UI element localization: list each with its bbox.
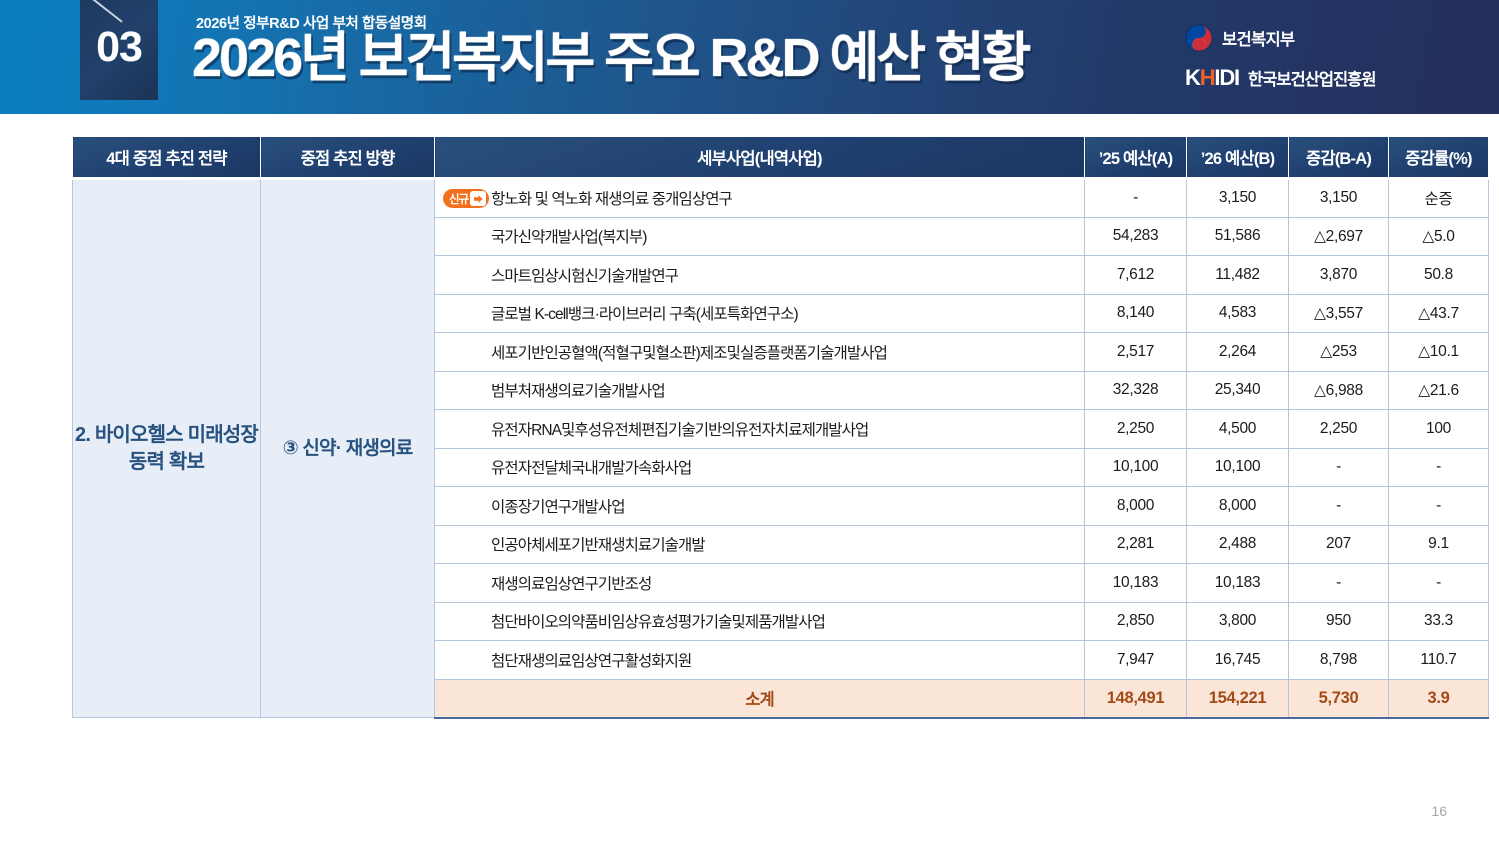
cell-budget-25: 2,517: [1085, 333, 1187, 372]
budget-table-wrapper: 4대 중점 추진 전략 중점 추진 방향 세부사업(내역사업) ’25 예산(A…: [72, 136, 1430, 719]
cell-rate: -: [1389, 448, 1489, 487]
cell-diff: △2,697: [1289, 217, 1389, 256]
cell-subtotal-diff: 5,730: [1289, 679, 1389, 718]
new-arrow-icon: [470, 191, 486, 206]
cell-diff: △253: [1289, 333, 1389, 372]
table-header-row: 4대 중점 추진 전략 중점 추진 방향 세부사업(내역사업) ’25 예산(A…: [73, 137, 1489, 179]
cell-rate: △21.6: [1389, 371, 1489, 410]
cell-budget-25: 10,100: [1085, 448, 1187, 487]
cell-program-name: 첨단바이오의약품비임상유효성평가기술및제품개발사업: [435, 602, 1085, 641]
cell-budget-25: 54,283: [1085, 217, 1187, 256]
cell-diff: -: [1289, 564, 1389, 603]
col-header-budget-25: ’25 예산(A): [1085, 137, 1187, 179]
cell-subtotal-rate: 3.9: [1389, 679, 1489, 718]
khidi-letters-idi: IDI: [1214, 65, 1239, 90]
cell-budget-26: 8,000: [1187, 487, 1289, 526]
budget-table: 4대 중점 추진 전략 중점 추진 방향 세부사업(내역사업) ’25 예산(A…: [72, 136, 1489, 719]
cell-budget-25: -: [1085, 179, 1187, 218]
page-number: 16: [1431, 803, 1447, 819]
cell-diff: -: [1289, 448, 1389, 487]
cell-rate: 100: [1389, 410, 1489, 449]
col-header-rate: 증감률(%): [1389, 137, 1489, 179]
cell-program-name: 재생의료임상연구기반조성: [435, 564, 1085, 603]
cell-rate: 110.7: [1389, 641, 1489, 680]
khidi-logo: KHIDI 한국보건산업진흥원: [1185, 65, 1435, 91]
taegeuk-icon: [1185, 24, 1213, 52]
cell-diff: 207: [1289, 525, 1389, 564]
cell-diff: 8,798: [1289, 641, 1389, 680]
cell-budget-25: 2,250: [1085, 410, 1187, 449]
cell-budget-26: 4,500: [1187, 410, 1289, 449]
cell-program-name: 유전자전달체국내개발가속화사업: [435, 448, 1085, 487]
cell-diff: 3,150: [1289, 179, 1389, 218]
col-header-program: 세부사업(내역사업): [435, 137, 1085, 179]
logo-group: 보건복지부 KHIDI 한국보건산업진흥원: [1185, 24, 1435, 91]
cell-rate: △43.7: [1389, 294, 1489, 333]
cell-rate: △10.1: [1389, 333, 1489, 372]
section-number: 03: [80, 26, 158, 69]
col-header-budget-26: ’26 예산(B): [1187, 137, 1289, 179]
cell-strategy: 2. 바이오헬스 미래성장 동력 확보: [73, 179, 261, 718]
cell-program-name: 이종장기연구개발사업: [435, 487, 1085, 526]
cell-rate: 33.3: [1389, 602, 1489, 641]
cell-program-name: 첨단재생의료임상연구활성화지원: [435, 641, 1085, 680]
table-row: 2. 바이오헬스 미래성장 동력 확보③ 신약· 재생의료신규항노화 및 역노화…: [73, 179, 1489, 218]
new-badge-label: 신규: [449, 191, 468, 207]
col-header-direction: 중점 추진 방향: [261, 137, 435, 179]
cell-budget-25: 7,612: [1085, 256, 1187, 295]
program-name-text: 항노화 및 역노화 재생의료 중개임상연구: [491, 191, 732, 208]
cell-rate: -: [1389, 487, 1489, 526]
cell-program-name: 세포기반인공혈액(적혈구및혈소판)제조및실증플랫폼기술개발사업: [435, 333, 1085, 372]
cell-diff: 950: [1289, 602, 1389, 641]
cell-budget-26: 10,100: [1187, 448, 1289, 487]
cell-diff: 3,870: [1289, 256, 1389, 295]
khidi-letter-h: H: [1200, 65, 1215, 90]
cell-budget-25: 7,947: [1085, 641, 1187, 680]
cell-rate: 50.8: [1389, 256, 1489, 295]
cell-budget-26: 3,150: [1187, 179, 1289, 218]
cell-subtotal-budget-26: 154,221: [1187, 679, 1289, 718]
cell-rate: 순증: [1389, 179, 1489, 218]
cell-budget-26: 4,583: [1187, 294, 1289, 333]
ministry-logo: 보건복지부: [1185, 24, 1435, 52]
cell-program-name: 인공아체세포기반재생치료기술개발: [435, 525, 1085, 564]
slide-header: 03 2026년 정부R&D 사업 부처 합동설명회 2026년 보건복지부 주…: [0, 0, 1499, 114]
ministry-logo-label: 보건복지부: [1222, 26, 1294, 50]
khidi-letter-k: K: [1185, 65, 1200, 90]
cell-budget-25: 2,850: [1085, 602, 1187, 641]
section-number-badge: 03: [80, 0, 158, 100]
cell-diff: △6,988: [1289, 371, 1389, 410]
cell-program-name: 국가신약개발사업(복지부): [435, 217, 1085, 256]
cell-diff: 2,250: [1289, 410, 1389, 449]
page-title: 2026년 보건복지부 주요 R&D 예산 현황: [192, 29, 1028, 87]
cell-rate: △5.0: [1389, 217, 1489, 256]
cell-budget-26: 16,745: [1187, 641, 1289, 680]
cell-program-name: 스마트임상시험신기술개발연구: [435, 256, 1085, 295]
cell-direction: ③ 신약· 재생의료: [261, 179, 435, 718]
cell-rate: -: [1389, 564, 1489, 603]
cell-budget-26: 10,183: [1187, 564, 1289, 603]
cell-budget-26: 51,586: [1187, 217, 1289, 256]
cell-program-name: 범부처재생의료기술개발사업: [435, 371, 1085, 410]
cell-budget-26: 2,488: [1187, 525, 1289, 564]
cell-budget-25: 32,328: [1085, 371, 1187, 410]
col-header-diff: 증감(B-A): [1289, 137, 1389, 179]
cell-budget-26: 2,264: [1187, 333, 1289, 372]
cell-program-name: 글로벌 K-cell뱅크·라이브러리 구축(세포특화연구소): [435, 294, 1085, 333]
cell-program-name: 유전자RNA및후성유전체편집기술기반의유전자치료제개발사업: [435, 410, 1085, 449]
cell-budget-25: 10,183: [1085, 564, 1187, 603]
cell-rate: 9.1: [1389, 525, 1489, 564]
cell-budget-26: 3,800: [1187, 602, 1289, 641]
new-badge: 신규: [443, 189, 489, 208]
table-header: 4대 중점 추진 전략 중점 추진 방향 세부사업(내역사업) ’25 예산(A…: [73, 137, 1489, 179]
cell-budget-26: 25,340: [1187, 371, 1289, 410]
cell-diff: △3,557: [1289, 294, 1389, 333]
cell-budget-25: 2,281: [1085, 525, 1187, 564]
khidi-logo-label: 한국보건산업진흥원: [1248, 66, 1376, 90]
table-body: 2. 바이오헬스 미래성장 동력 확보③ 신약· 재생의료신규항노화 및 역노화…: [73, 179, 1489, 718]
cell-budget-26: 11,482: [1187, 256, 1289, 295]
col-header-strategy: 4대 중점 추진 전략: [73, 137, 261, 179]
cell-subtotal-budget-25: 148,491: [1085, 679, 1187, 718]
cell-program-name: 신규항노화 및 역노화 재생의료 중개임상연구: [435, 179, 1085, 218]
cell-budget-25: 8,140: [1085, 294, 1187, 333]
cell-diff: -: [1289, 487, 1389, 526]
cell-subtotal-label: 소계: [435, 679, 1085, 718]
cell-budget-25: 8,000: [1085, 487, 1187, 526]
khidi-wordmark: KHIDI: [1185, 65, 1239, 91]
